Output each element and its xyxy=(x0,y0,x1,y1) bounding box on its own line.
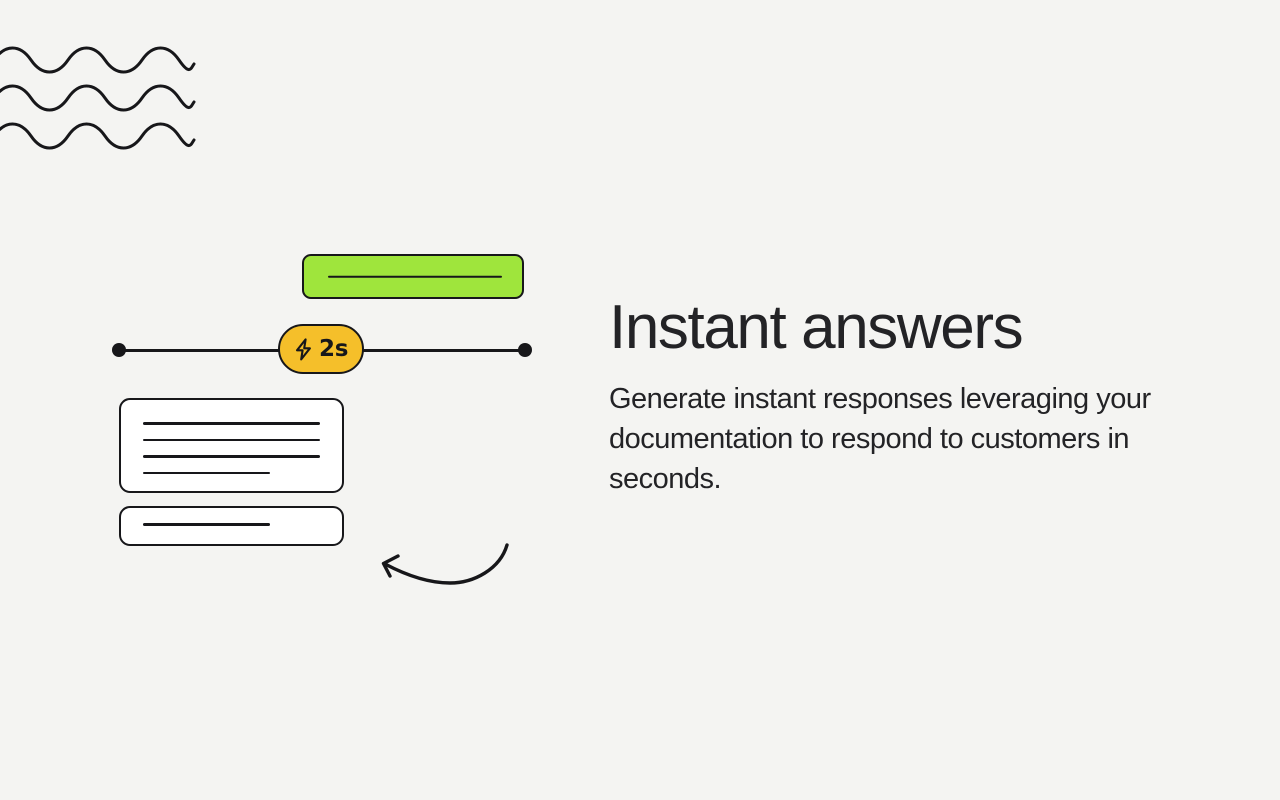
speed-badge: 2s xyxy=(278,324,364,374)
page-title: Instant answers xyxy=(609,296,1219,359)
card-line xyxy=(143,439,320,442)
card-line xyxy=(143,455,320,458)
timeline-end-dot xyxy=(518,343,532,357)
timeline-start-dot xyxy=(112,343,126,357)
copy-block: Instant answers Generate instant respons… xyxy=(609,296,1219,499)
response-card-small xyxy=(119,506,344,546)
green-bar-inner-line xyxy=(328,275,502,278)
wavy-lines-decoration xyxy=(0,38,200,150)
timeline-track xyxy=(118,349,526,352)
page-description: Generate instant responses leveraging yo… xyxy=(609,379,1209,499)
green-progress-bar xyxy=(302,254,524,299)
response-timeline xyxy=(112,343,532,359)
card-line xyxy=(143,523,270,526)
wave-line-2 xyxy=(0,86,194,110)
wave-line-3 xyxy=(0,124,194,148)
card-line xyxy=(143,422,320,425)
card-line xyxy=(143,472,270,475)
curved-arrow-icon xyxy=(370,535,520,590)
wave-line-1 xyxy=(0,48,194,72)
lightning-bolt-icon xyxy=(294,338,313,361)
response-card-large xyxy=(119,398,344,493)
slide-canvas: 2s Instant answers Generate instant resp… xyxy=(0,0,1280,800)
instant-answers-illustration: 2s xyxy=(0,0,620,800)
speed-badge-value: 2s xyxy=(319,338,348,361)
